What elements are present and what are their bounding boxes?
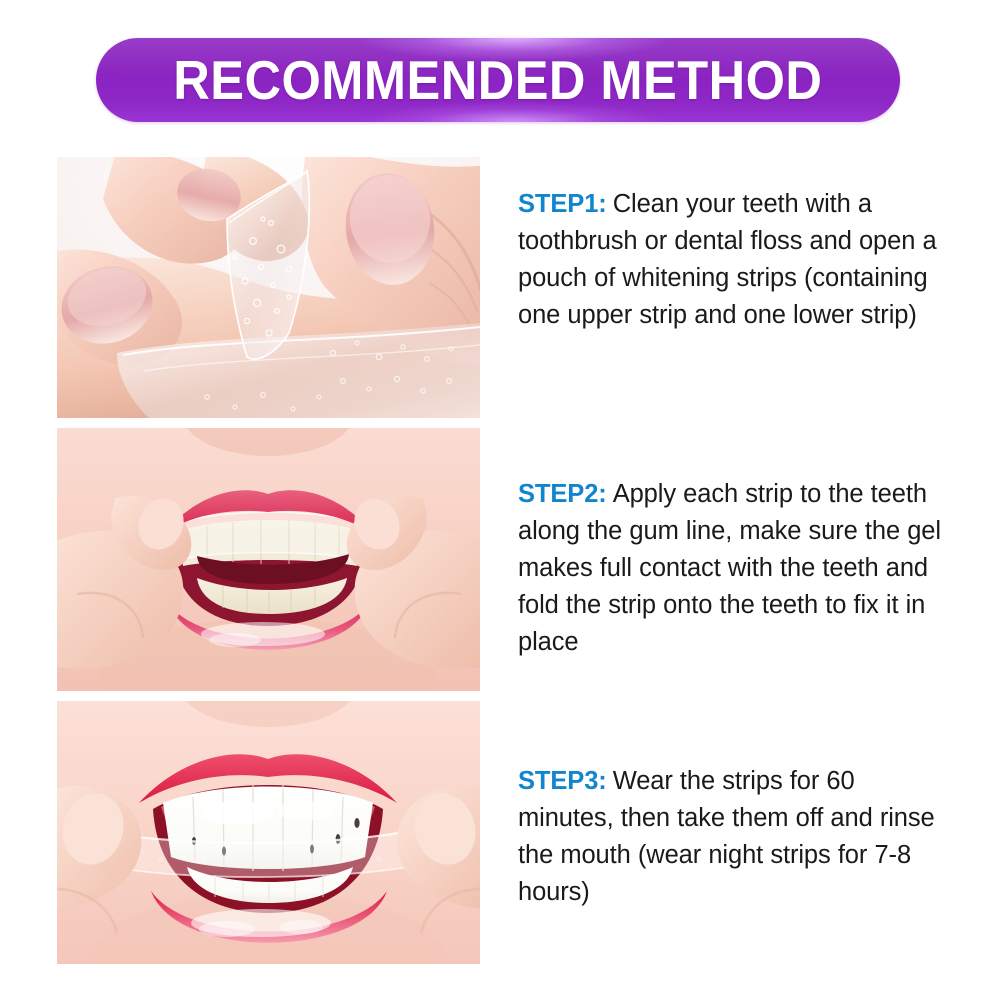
step-1-label: STEP1: (518, 190, 607, 218)
step-2-label: STEP2: (518, 480, 607, 508)
page-title: RECOMMENDED METHOD (173, 53, 822, 108)
step-1-photo (57, 157, 480, 418)
removing-strip-white-smile-illustration (57, 701, 480, 964)
step-2-text: STEP2:Apply each strip to the teeth alon… (518, 476, 950, 661)
step-2-photo (57, 428, 480, 691)
step-3-text: STEP3:Wear the strips for 60 minutes, th… (518, 763, 950, 911)
step-1-text: STEP1:Clean your teeth with a toothbrush… (518, 186, 950, 334)
step-3-label: STEP3: (518, 767, 607, 795)
step-3-photo (57, 701, 480, 964)
applying-strip-to-upper-teeth-illustration (57, 428, 480, 691)
hands-peeling-whitening-strip-illustration (57, 157, 480, 418)
header-banner: RECOMMENDED METHOD (96, 38, 900, 122)
recommended-method-infographic: RECOMMENDED METHOD (0, 0, 1000, 1000)
